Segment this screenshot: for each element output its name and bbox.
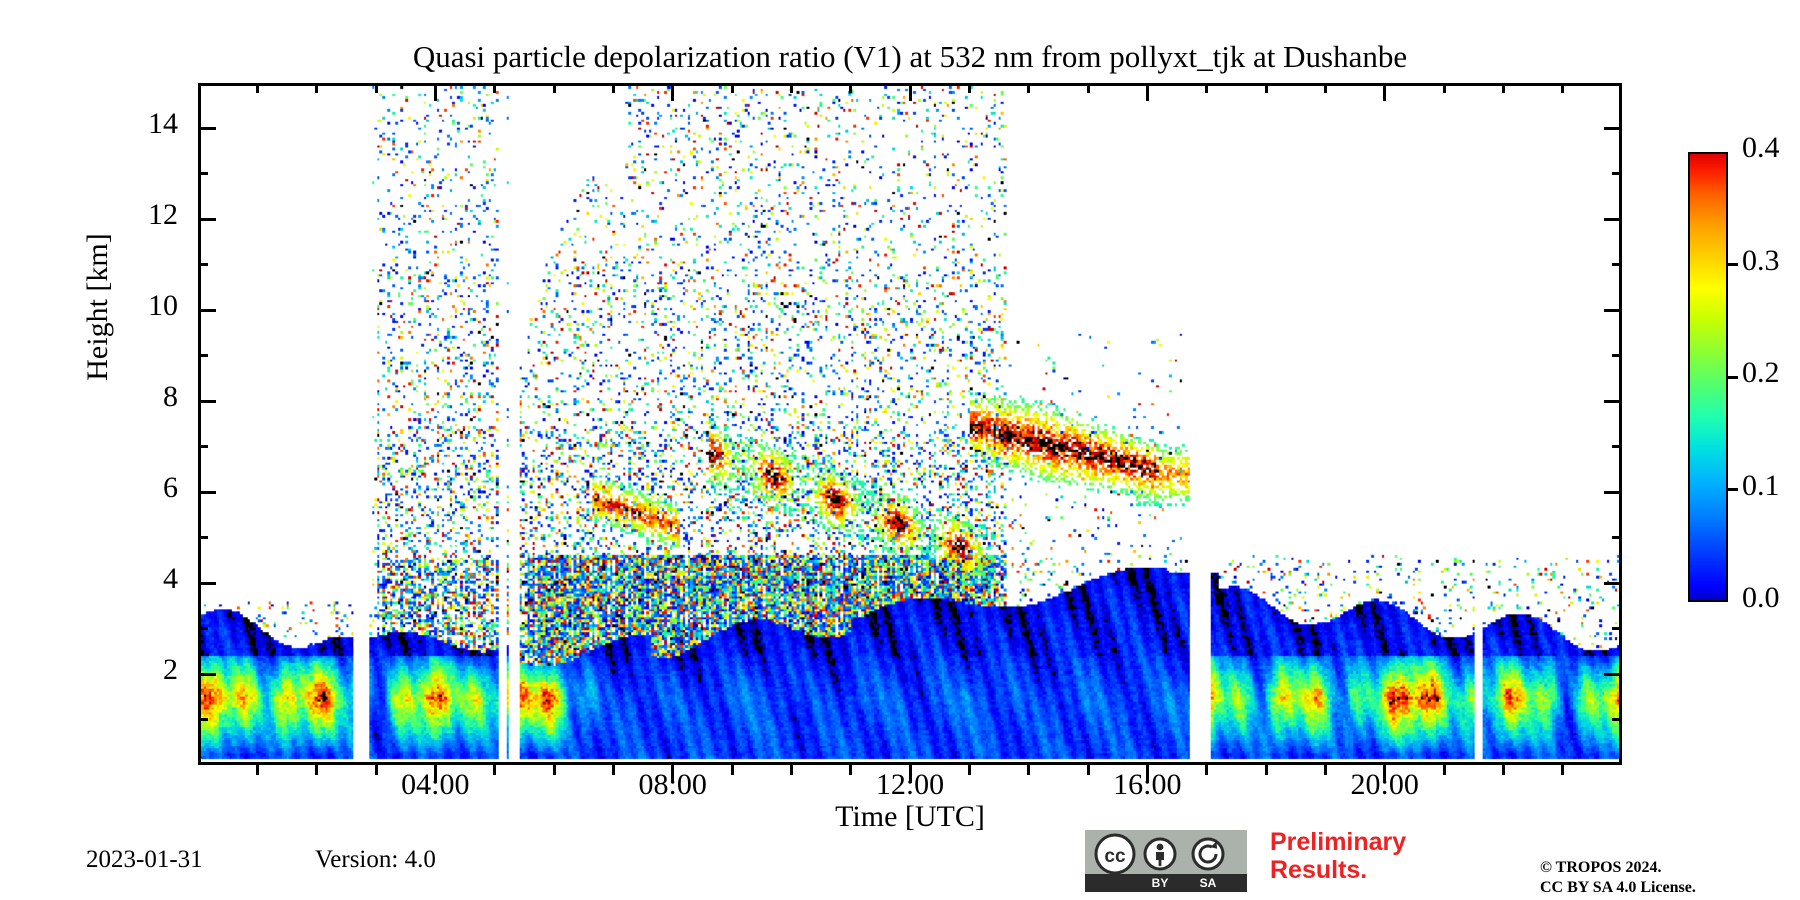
- y-tick-label: 8: [118, 382, 178, 412]
- x-tick-minor: [1502, 765, 1505, 775]
- colorbar-tick-label: 0.0: [1742, 583, 1780, 613]
- y-tick-major: [1604, 673, 1622, 676]
- copyright-line-1: © TROPOS 2024.: [1540, 858, 1696, 878]
- y-tick-major: [1604, 218, 1622, 221]
- x-tick-minor: [731, 765, 734, 775]
- x-tick-major: [434, 83, 437, 101]
- x-tick-minor: [968, 765, 971, 775]
- y-tick-minor: [198, 718, 208, 721]
- y-tick-minor: [1612, 536, 1622, 539]
- x-tick-minor: [1027, 83, 1030, 93]
- x-tick-minor: [1087, 83, 1090, 93]
- x-tick-label: 20:00: [1305, 770, 1465, 800]
- x-tick-label: 04:00: [355, 770, 515, 800]
- x-tick-minor: [553, 83, 556, 93]
- cc-sa-label: SA: [1189, 874, 1227, 892]
- x-tick-minor: [1324, 83, 1327, 93]
- x-tick-major: [671, 83, 674, 101]
- x-tick-minor: [849, 765, 852, 775]
- plot-area[interactable]: [198, 83, 1622, 765]
- colorbar-tick-label: 0.1: [1742, 471, 1780, 501]
- y-tick-minor: [1612, 445, 1622, 448]
- x-tick-minor: [375, 83, 378, 93]
- y-tick-major: [1604, 309, 1622, 312]
- footer-date: 2023-01-31: [86, 846, 203, 874]
- y-tick-label: 4: [118, 564, 178, 594]
- y-tick-minor: [198, 354, 208, 357]
- x-tick-label: 08:00: [593, 770, 753, 800]
- x-tick-label: 12:00: [830, 770, 990, 800]
- cc-by-label: BY: [1141, 874, 1179, 892]
- x-tick-major: [1146, 83, 1149, 101]
- x-tick-minor: [1502, 83, 1505, 93]
- y-tick-major: [198, 218, 216, 221]
- x-tick-minor: [1265, 83, 1268, 93]
- y-tick-minor: [198, 172, 208, 175]
- y-tick-major: [1604, 127, 1622, 130]
- x-tick-minor: [493, 765, 496, 775]
- x-tick-minor: [612, 83, 615, 93]
- copyright-line-2: CC BY SA 4.0 License.: [1540, 878, 1696, 898]
- svg-text:cc: cc: [1104, 846, 1126, 867]
- x-tick-minor: [968, 83, 971, 93]
- x-tick-minor: [731, 83, 734, 93]
- y-tick-label: 12: [118, 200, 178, 230]
- colorbar-tick-label: 0.2: [1742, 358, 1780, 388]
- lidar-quicklook-figure: Quasi particle depolarization ratio (V1)…: [0, 0, 1800, 900]
- x-tick-minor: [1205, 83, 1208, 93]
- y-axis-label: Height [km]: [81, 157, 115, 457]
- y-tick-label: 6: [118, 473, 178, 503]
- y-tick-major: [1604, 582, 1622, 585]
- x-tick-minor: [256, 765, 259, 775]
- x-tick-minor: [315, 765, 318, 775]
- x-tick-minor: [1027, 765, 1030, 775]
- y-tick-minor: [1612, 718, 1622, 721]
- x-tick-major: [1383, 83, 1386, 101]
- x-tick-minor: [1205, 765, 1208, 775]
- x-tick-minor: [1561, 83, 1564, 93]
- x-tick-minor: [1561, 765, 1564, 775]
- y-tick-minor: [198, 627, 208, 630]
- y-tick-label: 2: [118, 655, 178, 685]
- y-tick-major: [1604, 400, 1622, 403]
- colorbar-tick-label: 0.4: [1742, 133, 1780, 163]
- colorbar: [1688, 152, 1728, 602]
- y-tick-label: 14: [118, 109, 178, 139]
- y-tick-minor: [1612, 354, 1622, 357]
- y-tick-minor: [198, 536, 208, 539]
- footer-version: Version: 4.0: [315, 846, 436, 874]
- y-tick-major: [198, 491, 216, 494]
- x-tick-label: 16:00: [1067, 770, 1227, 800]
- x-tick-minor: [375, 765, 378, 775]
- x-tick-minor: [790, 83, 793, 93]
- preliminary-results-note: Preliminary Results.: [1270, 828, 1500, 884]
- heatmap-canvas: [201, 86, 1619, 762]
- x-tick-minor: [1443, 83, 1446, 93]
- x-tick-minor: [256, 83, 259, 93]
- x-tick-minor: [612, 765, 615, 775]
- y-tick-label: 10: [118, 291, 178, 321]
- preliminary-line-1: Preliminary: [1270, 828, 1500, 856]
- y-tick-minor: [1612, 263, 1622, 266]
- y-tick-minor: [198, 263, 208, 266]
- y-tick-minor: [198, 445, 208, 448]
- y-tick-major: [198, 309, 216, 312]
- colorbar-tick: [1726, 488, 1738, 491]
- x-tick-minor: [315, 83, 318, 93]
- colorbar-tick-label: 0.3: [1742, 246, 1780, 276]
- creative-commons-badge[interactable]: cc BY SA: [1085, 830, 1247, 892]
- x-tick-minor: [1265, 765, 1268, 775]
- x-tick-minor: [790, 765, 793, 775]
- y-tick-major: [198, 582, 216, 585]
- x-tick-minor: [1443, 765, 1446, 775]
- x-tick-minor: [493, 83, 496, 93]
- y-tick-major: [198, 127, 216, 130]
- colorbar-gradient: [1688, 152, 1728, 602]
- preliminary-line-2: Results.: [1270, 856, 1500, 884]
- x-tick-minor: [1324, 765, 1327, 775]
- y-tick-major: [198, 673, 216, 676]
- y-tick-minor: [1612, 172, 1622, 175]
- x-tick-minor: [849, 83, 852, 93]
- page-title: Quasi particle depolarization ratio (V1)…: [198, 40, 1622, 74]
- colorbar-tick: [1726, 376, 1738, 379]
- colorbar-tick: [1726, 263, 1738, 266]
- x-tick-minor: [553, 765, 556, 775]
- x-tick-minor: [1087, 765, 1090, 775]
- y-tick-major: [1604, 491, 1622, 494]
- x-tick-major: [909, 83, 912, 101]
- y-tick-major: [198, 400, 216, 403]
- y-tick-minor: [1612, 627, 1622, 630]
- copyright-notice: © TROPOS 2024. CC BY SA 4.0 License.: [1540, 858, 1696, 898]
